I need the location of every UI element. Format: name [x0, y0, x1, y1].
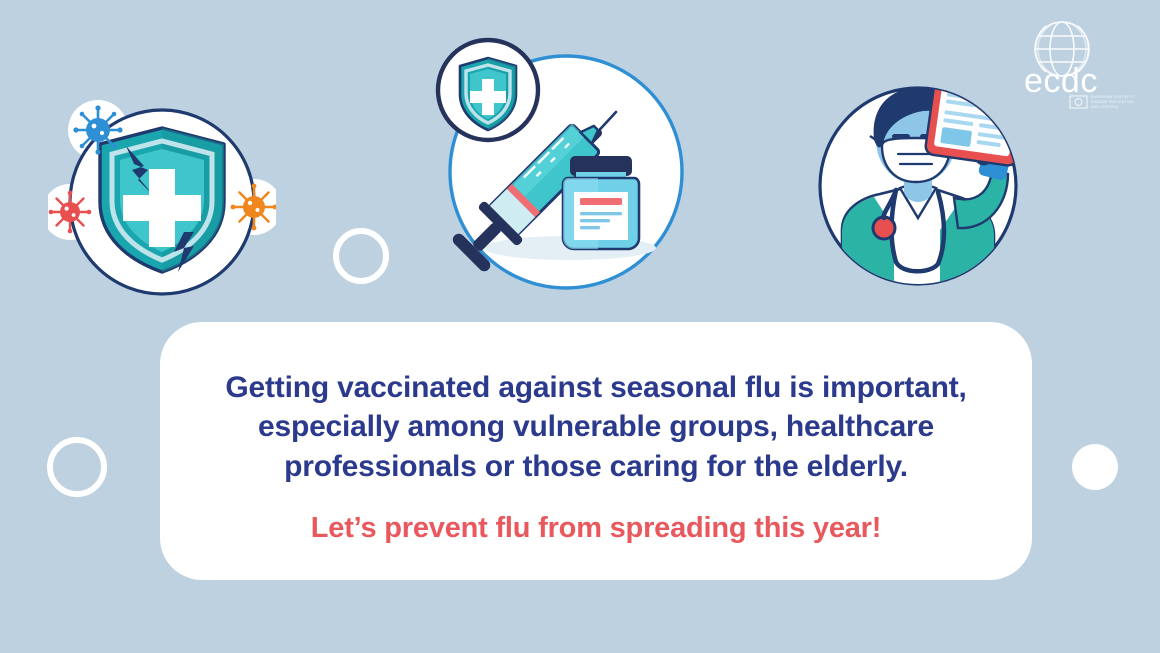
subheadline-text: Let’s prevent flu from spreading this ye…: [311, 512, 881, 545]
virus-icon-blue: [73, 105, 122, 154]
headline-text: Getting vaccinated against seasonal flu …: [201, 368, 991, 486]
svg-text:AND CONTROL: AND CONTROL: [1091, 105, 1119, 109]
stethoscope-chestpiece: [873, 217, 895, 239]
ecdc-logo: ecdc EUROPEAN CENTRE FOR DISEASE PREVENT…: [1022, 16, 1134, 116]
ecdc-tagline: EUROPEAN CENTRE FOR DISEASE PREVENTION A…: [1091, 95, 1134, 109]
message-card: Getting vaccinated against seasonal flu …: [160, 322, 1032, 580]
poster-canvas: ecdc EUROPEAN CENTRE FOR DISEASE PREVENT…: [0, 0, 1160, 653]
illustration-healthcare-professional: [812, 78, 1024, 290]
illustration-shield-protection: [48, 92, 276, 302]
svg-text:ecdc: ecdc: [1024, 62, 1098, 100]
decorative-ring-middle: [333, 228, 389, 284]
vaccine-vial-icon: [563, 156, 639, 249]
clipboard-icon: [925, 78, 1024, 167]
shield-badge-icon: [438, 40, 538, 140]
ecdc-wordmark-text: ecdc: [1134, 16, 1135, 17]
ecdc-wordmark: ecdc: [1024, 62, 1098, 100]
decorative-circle-right: [1072, 444, 1118, 490]
decorative-ring-left: [47, 437, 107, 497]
svg-text:DISEASE PREVENTION: DISEASE PREVENTION: [1091, 100, 1134, 104]
svg-text:EUROPEAN CENTRE FOR: EUROPEAN CENTRE FOR: [1091, 95, 1134, 99]
ecdc-tagline-text: EUROPEAN CENTRE FOR DISEASE PREVENTION A…: [1134, 16, 1135, 17]
illustration-syringe-and-vial: [430, 36, 692, 298]
